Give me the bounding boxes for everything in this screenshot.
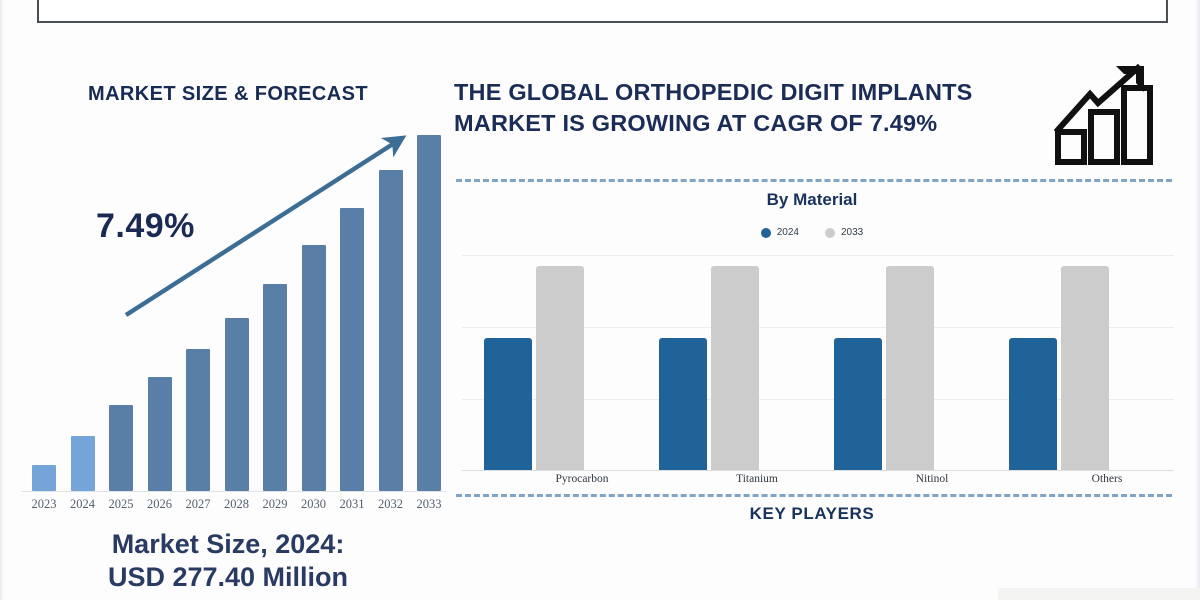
year-label: 2024 bbox=[63, 497, 103, 512]
legend-item: 2024 bbox=[761, 227, 799, 238]
forecast-bar bbox=[32, 465, 56, 491]
by-material-title: By Material bbox=[452, 190, 1172, 210]
chart-baseline bbox=[22, 491, 446, 492]
logo-smith-nephew: Smith+Nephew bbox=[714, 588, 994, 600]
forecast-bar bbox=[417, 135, 441, 491]
growth-bar-arrow-icon bbox=[1044, 56, 1164, 168]
divider-bottom bbox=[456, 494, 1172, 497]
material-category-label: Others bbox=[1037, 473, 1177, 485]
material-bar bbox=[886, 266, 934, 470]
year-label: 2025 bbox=[101, 497, 141, 512]
extremity-x-accent: X bbox=[464, 596, 491, 600]
page-title: GLOBAL ORTHOPEDIC DIGIT IMPLANTS MARKET bbox=[37, 0, 1168, 3]
forecast-bar bbox=[186, 349, 210, 491]
forecast-bar bbox=[71, 436, 95, 491]
headline-text: THE GLOBAL ORTHOPEDIC DIGIT IMPLANTS MAR… bbox=[454, 77, 1014, 138]
year-label: 2028 bbox=[217, 497, 257, 512]
year-label: 2029 bbox=[255, 497, 295, 512]
material-category-labels: PyrocarbonTitaniumNitinolOthers bbox=[462, 473, 1174, 493]
material-category-label: Titanium bbox=[687, 473, 827, 485]
year-axis-labels: 2023202420252026202720282029203020312032… bbox=[16, 497, 448, 519]
legend-dot-icon bbox=[761, 228, 771, 238]
forecast-bar bbox=[379, 170, 403, 491]
material-category-label: Nitinol bbox=[862, 473, 1002, 485]
logo-extremity-medical: E TREMITY X ® MEDICAL bbox=[430, 588, 692, 600]
market-size-line-2: USD 277.40 Million bbox=[8, 561, 448, 594]
material-bar bbox=[1009, 338, 1057, 470]
legend-label: 2033 bbox=[841, 227, 863, 238]
chart-baseline bbox=[462, 470, 1174, 471]
material-category-label: Pyrocarbon bbox=[512, 473, 652, 485]
forecast-bar bbox=[148, 377, 172, 491]
key-players-logos: E TREMITY X ® MEDICAL Smith+Nephew e nov… bbox=[452, 588, 1200, 600]
year-label: 2032 bbox=[371, 497, 411, 512]
material-bar bbox=[834, 338, 882, 470]
enovis-wordmark: novis bbox=[1046, 594, 1172, 600]
gridline bbox=[462, 255, 1174, 256]
year-label: 2026 bbox=[140, 497, 180, 512]
forecast-bar bbox=[263, 284, 287, 491]
key-players-title: KEY PLAYERS bbox=[452, 504, 1172, 524]
market-size-line-1: Market Size, 2024: bbox=[8, 528, 448, 561]
page-left-edge bbox=[0, 0, 5, 600]
page-right-edge bbox=[1194, 0, 1200, 600]
forecast-bar bbox=[109, 405, 133, 491]
material-bar bbox=[484, 338, 532, 470]
material-bar bbox=[711, 266, 759, 470]
material-bar bbox=[536, 266, 584, 470]
legend-dot-icon bbox=[825, 228, 835, 238]
market-size-value: Market Size, 2024: USD 277.40 Million bbox=[8, 528, 448, 595]
market-size-panel: MARKET SIZE & FORECAST 7.49% 20232024202… bbox=[8, 60, 448, 600]
logo-enovis: e novis ™ bbox=[998, 588, 1200, 600]
year-label: 2031 bbox=[332, 497, 372, 512]
year-label: 2030 bbox=[294, 497, 334, 512]
extremity-wordmark: E TREMITY bbox=[430, 596, 634, 600]
year-label: 2027 bbox=[178, 497, 218, 512]
divider-top bbox=[456, 179, 1172, 182]
infographic-page: GLOBAL ORTHOPEDIC DIGIT IMPLANTS MARKET … bbox=[0, 0, 1200, 600]
by-material-chart bbox=[462, 255, 1174, 471]
material-bar bbox=[659, 338, 707, 470]
legend-item: 2033 bbox=[825, 227, 863, 238]
forecast-bar bbox=[302, 245, 326, 491]
market-size-heading: MARKET SIZE & FORECAST bbox=[8, 83, 448, 106]
right-panel: THE GLOBAL ORTHOPEDIC DIGIT IMPLANTS MAR… bbox=[452, 60, 1192, 600]
enovis-e: e bbox=[1012, 594, 1039, 600]
legend-label: 2024 bbox=[777, 227, 799, 238]
title-frame bbox=[37, 0, 1168, 23]
chart-legend: 20242033 bbox=[452, 227, 1172, 238]
year-label: 2033 bbox=[409, 497, 449, 512]
material-bar bbox=[1061, 266, 1109, 470]
forecast-bar bbox=[225, 318, 249, 491]
year-label: 2023 bbox=[24, 497, 64, 512]
forecast-bar bbox=[340, 208, 364, 491]
market-size-forecast-chart bbox=[16, 120, 448, 492]
